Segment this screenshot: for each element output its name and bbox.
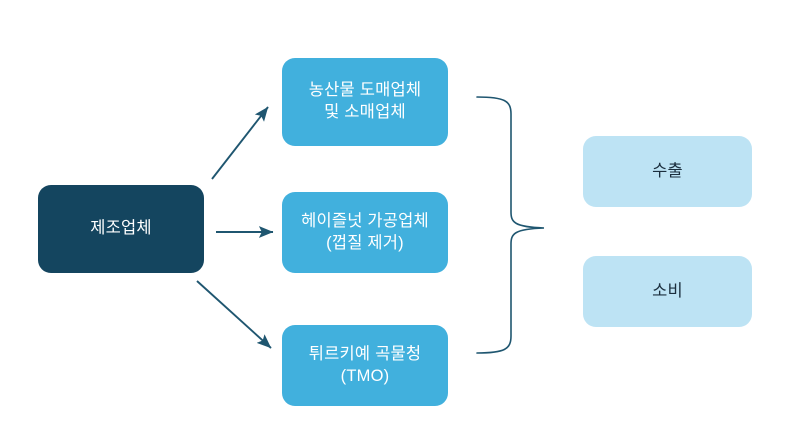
arrow-manufacturer-to-wholesaler [212, 107, 268, 179]
node-hazelnut-processor[interactable]: 헤이즐넛 가공업체 (껍질 제거) [282, 192, 448, 273]
node-wholesaler-retailer[interactable]: 농산물 도매업체 및 소매업체 [282, 58, 448, 146]
node-turkish-grain-board-tmo[interactable]: 튀르키예 곡물청 (TMO) [282, 325, 448, 406]
right-curly-brace-grouping-channels [477, 97, 544, 353]
diagram-canvas: 제조업체 농산물 도매업체 및 소매업체 헤이즐넛 가공업체 (껍질 제거) 튀… [0, 0, 809, 443]
arrow-manufacturer-to-tmo [197, 281, 271, 348]
node-manufacturer[interactable]: 제조업체 [38, 185, 204, 273]
node-consumption[interactable]: 소비 [583, 256, 752, 327]
node-export[interactable]: 수출 [583, 136, 752, 207]
